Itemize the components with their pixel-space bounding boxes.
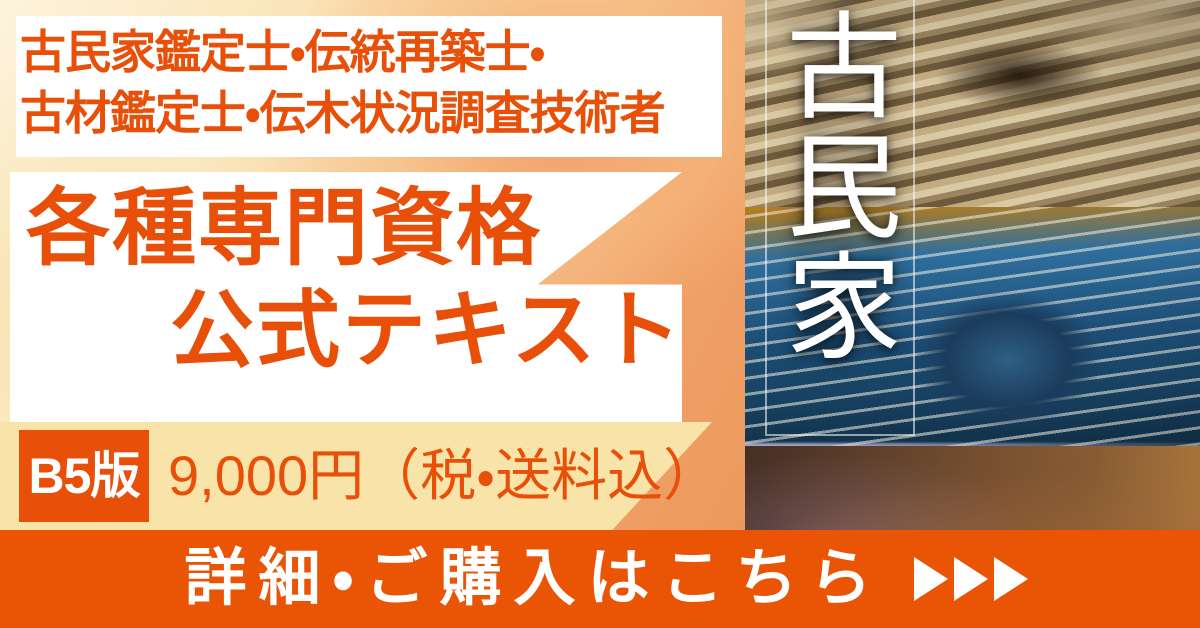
size-badge: B5版 (19, 430, 149, 522)
triangle-right-icon (914, 557, 948, 601)
cta-arrows (914, 557, 1028, 601)
qualifications-text: 古民家鑑定士・伝統再築士・ 古材鑑定士・伝木状況調査技術者 (20, 22, 720, 143)
cover-title: 古民家 (790, 6, 900, 366)
cta-label: 詳細・ご購入はこちら (172, 548, 883, 610)
qualifications-line-2: 古材鑑定士・伝木状況調査技術者 (20, 83, 720, 144)
headline-line-1: 各種専門資格 (26, 186, 542, 270)
price-text: 9,000円（税・送料込） (168, 437, 719, 515)
triangle-right-icon (994, 557, 1028, 601)
headline-line-2: 公式テキスト (170, 288, 683, 372)
cta-bar[interactable]: 詳細・ご購入はこちら (0, 530, 1200, 628)
triangle-right-icon (954, 557, 988, 601)
qualifications-line-1: 古民家鑑定士・伝統再築士・ (20, 22, 720, 83)
promo-banner: 伝統構法 古民家活用のための調査と再生の 古民家 古民家鑑定士・伝統再築士・ 古… (0, 0, 1200, 628)
